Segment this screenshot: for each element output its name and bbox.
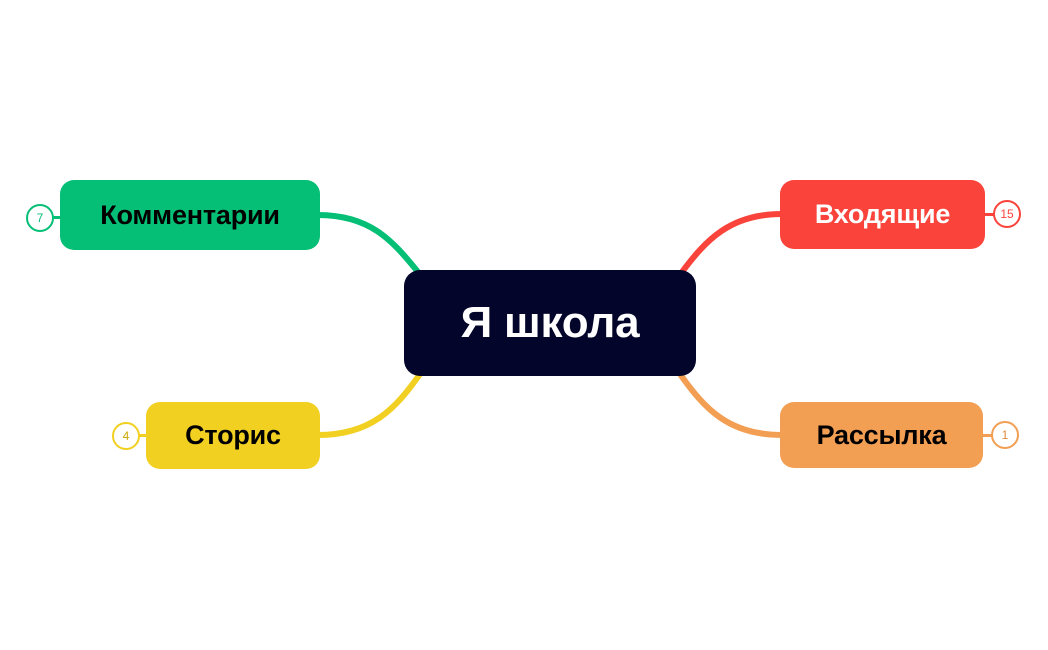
branch-node-stories-label: Сторис xyxy=(185,422,281,449)
badge-count-comments[interactable]: 7 xyxy=(26,204,54,232)
branch-node-inbox[interactable]: Входящие xyxy=(780,180,985,249)
branch-node-newsletter-label: Рассылка xyxy=(817,422,947,449)
badge-count-inbox-value: 15 xyxy=(1000,207,1013,221)
branch-node-inbox-label: Входящие xyxy=(815,201,950,228)
central-node[interactable]: Я школа xyxy=(404,270,696,376)
badge-count-comments-value: 7 xyxy=(37,211,44,225)
branch-node-newsletter[interactable]: Рассылка xyxy=(780,402,983,468)
badge-count-stories-value: 4 xyxy=(123,429,130,443)
branch-node-comments[interactable]: Комментарии xyxy=(60,180,320,250)
badge-count-inbox[interactable]: 15 xyxy=(993,200,1021,228)
central-node-label: Я школа xyxy=(461,301,640,345)
badge-count-newsletter-value: 1 xyxy=(1002,428,1009,442)
badge-count-newsletter[interactable]: 1 xyxy=(991,421,1019,449)
connector-comments xyxy=(318,215,418,272)
connector-stories xyxy=(318,374,420,435)
badge-count-stories[interactable]: 4 xyxy=(112,422,140,450)
branch-node-stories[interactable]: Сторис xyxy=(146,402,320,469)
connector-newsletter xyxy=(680,374,782,435)
connector-inbox xyxy=(682,214,782,272)
branch-node-comments-label: Комментарии xyxy=(100,202,280,229)
mind-map-canvas: Я школа Комментарии 7 Сторис 4 Входящие … xyxy=(0,0,1048,650)
